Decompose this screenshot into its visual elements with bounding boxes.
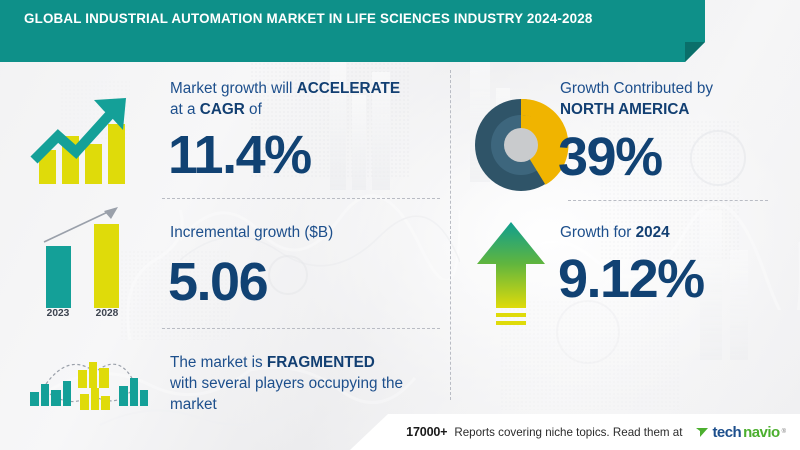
frag-line1-pre: The market is	[170, 354, 267, 371]
frag-line3: market	[170, 396, 217, 413]
technavio-logo-icon	[695, 425, 710, 440]
technavio-logo[interactable]: technavio®	[695, 424, 786, 441]
cagr-line2-bold: CAGR	[200, 101, 245, 118]
page-title: GLOBAL INDUSTRIAL AUTOMATION MARKET IN L…	[24, 9, 684, 29]
cagr-line1-bold: ACCELERATE	[297, 80, 400, 97]
frag-line1-bold: FRAGMENTED	[267, 354, 375, 371]
growth-arrow-chart-icon	[26, 88, 142, 192]
left-divider-1	[162, 198, 440, 199]
region-label-bold: NORTH AMERICA	[560, 101, 689, 118]
incremental-growth-value: 5.06	[168, 255, 267, 309]
report-count: 17000+	[406, 425, 447, 439]
region-value: 39%	[558, 130, 662, 184]
bar-chart-icon: 2023 2028	[14, 198, 146, 324]
logo-trademark: ®	[782, 429, 786, 435]
year-label-bold: 2024	[636, 224, 670, 241]
footer-bar: 17000+ Reports covering niche topics. Re…	[0, 414, 800, 450]
frag-line2: with several players occupying the	[170, 375, 403, 392]
footer-text: Reports covering niche topics. Read them…	[454, 426, 682, 439]
logo-text-navio: navio	[743, 424, 779, 441]
right-divider-1	[568, 200, 768, 201]
cagr-line2-post: of	[245, 101, 262, 118]
footer-content: 17000+ Reports covering niche topics. Re…	[406, 414, 786, 450]
left-divider-2	[162, 328, 440, 329]
cagr-line2-pre: at a	[170, 101, 200, 118]
donut-chart-icon	[472, 96, 570, 194]
incremental-growth-label: Incremental growth ($B)	[170, 222, 440, 243]
year-growth-caption: Growth for 2024	[560, 222, 790, 243]
year-label-pre: Growth for	[560, 224, 636, 241]
fragmented-market-icon	[16, 346, 150, 414]
bar-label-2028: 2028	[87, 308, 127, 319]
logo-text-tech: tech	[712, 424, 741, 441]
banner-fold-corner	[685, 42, 705, 62]
region-label-pre: Growth Contributed by	[560, 80, 713, 97]
cagr-line1-pre: Market growth will	[170, 80, 297, 97]
column-divider	[450, 70, 451, 400]
infographic-canvas: GLOBAL INDUSTRIAL AUTOMATION MARKET IN L…	[0, 0, 800, 450]
cagr-caption: Market growth will ACCELERATE at a CAGR …	[170, 78, 440, 120]
year-growth-value: 9.12%	[558, 252, 704, 306]
region-caption: Growth Contributed by NORTH AMERICA	[560, 78, 790, 120]
up-arrow-icon	[476, 220, 546, 332]
fragmentation-caption: The market is FRAGMENTED with several pl…	[170, 352, 442, 415]
bar-label-2023: 2023	[38, 308, 78, 319]
cagr-value: 11.4%	[168, 128, 311, 182]
